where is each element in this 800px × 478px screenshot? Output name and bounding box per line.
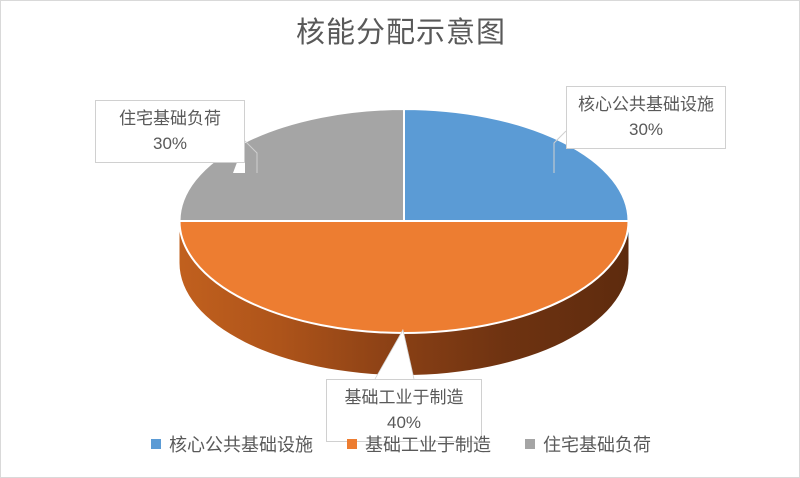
- data-label-core-percent: 30%: [573, 117, 719, 142]
- data-label-residential-name: 住宅基础负荷: [102, 106, 238, 131]
- legend-label-industrial: 基础工业于制造: [365, 431, 491, 457]
- legend-item-core[interactable]: 核心公共基础设施: [151, 431, 313, 457]
- data-label-core-name: 核心公共基础设施: [573, 92, 719, 117]
- data-label-residential: 住宅基础负荷 30%: [95, 100, 245, 163]
- legend-swatch-residential-icon: [525, 439, 535, 449]
- data-label-residential-percent: 30%: [102, 131, 238, 156]
- chart-container: 核能分配示意图: [0, 0, 800, 478]
- legend-label-core: 核心公共基础设施: [169, 431, 313, 457]
- chart-legend: 核心公共基础设施 基础工业于制造 住宅基础负荷: [1, 431, 800, 457]
- legend-item-industrial[interactable]: 基础工业于制造: [347, 431, 491, 457]
- data-label-core: 核心公共基础设施 30%: [566, 86, 726, 149]
- data-label-industrial-name: 基础工业于制造: [333, 385, 475, 410]
- legend-swatch-industrial-icon: [347, 439, 357, 449]
- legend-swatch-core-icon: [151, 439, 161, 449]
- legend-item-residential[interactable]: 住宅基础负荷: [525, 431, 651, 457]
- legend-label-residential: 住宅基础负荷: [543, 431, 651, 457]
